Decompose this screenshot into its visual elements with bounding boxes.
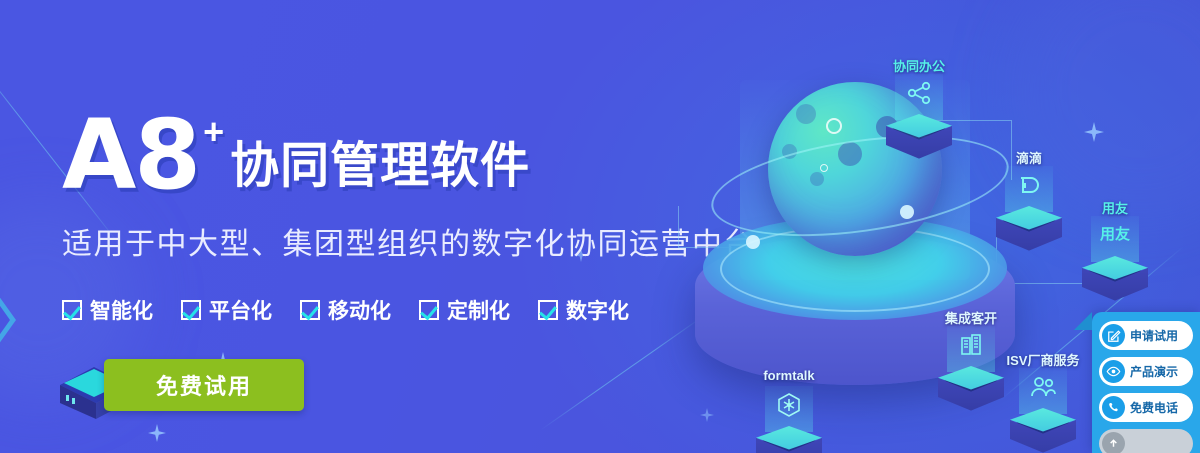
users-group-icon <box>1028 372 1058 402</box>
feature-label: 智能化 <box>90 295 153 325</box>
checkbox-checked-icon[interactable] <box>419 300 439 320</box>
side-action-apply-trial[interactable]: 申请试用 <box>1099 321 1193 350</box>
node-collab-office[interactable]: 协同办公 <box>882 58 956 150</box>
checkbox-checked-icon[interactable] <box>300 300 320 320</box>
side-action-label: 申请试用 <box>1130 327 1178 344</box>
node-integration-dev[interactable]: 集成客开 <box>934 310 1008 402</box>
yonyou-logo-icon: 用友 <box>1100 220 1130 250</box>
floating-action-panel: 申请试用 产品演示 免费电话 <box>1092 312 1200 453</box>
eye-icon <box>1102 360 1125 383</box>
feature-label: 平台化 <box>209 295 272 325</box>
product-logo-superscript: + <box>203 114 224 150</box>
feature-item-platform[interactable]: 平台化 <box>181 295 272 325</box>
orbit-dot <box>900 205 914 219</box>
side-action-product-demo[interactable]: 产品演示 <box>1099 357 1193 386</box>
node-label: ISV厂商服务 <box>1007 350 1080 369</box>
node-formtalk[interactable]: formtalk <box>752 370 826 453</box>
hero-banner: A8 + 协同管理软件 适用于中大型、集团型组织的数字化协同运营中台 智能化 平… <box>0 0 1200 453</box>
node-label: 集成客开 <box>945 308 997 327</box>
checkbox-checked-icon[interactable] <box>538 300 558 320</box>
feature-item-mobile[interactable]: 移动化 <box>300 295 391 325</box>
side-action-free-call[interactable]: 免费电话 <box>1099 393 1193 422</box>
free-trial-button[interactable]: 免费试用 <box>104 359 304 411</box>
product-logo-text: A8 <box>62 110 199 201</box>
node-label: 滴滴 <box>1016 148 1042 167</box>
side-action-label: 产品演示 <box>1130 363 1178 380</box>
cta-area: 免费试用 <box>62 359 322 417</box>
checkbox-checked-icon[interactable] <box>181 300 201 320</box>
share-network-icon <box>904 78 934 108</box>
product-title-cn: 协同管理软件 <box>230 126 530 197</box>
feature-label: 移动化 <box>328 295 391 325</box>
feature-item-intelligent[interactable]: 智能化 <box>62 295 153 325</box>
buildings-icon <box>956 330 986 360</box>
side-action-back-to-top[interactable] <box>1099 429 1193 453</box>
node-yonyou[interactable]: 用友 用友 <box>1078 200 1152 292</box>
node-isv-service[interactable]: ISV厂商服务 <box>1006 352 1080 444</box>
phone-handset-icon <box>1102 396 1125 419</box>
feature-label: 定制化 <box>447 295 510 325</box>
feature-item-custom[interactable]: 定制化 <box>419 295 510 325</box>
node-label: 用友 <box>1102 198 1128 217</box>
node-label: 协同办公 <box>893 56 945 75</box>
chevron-decoration-1-mask <box>0 286 10 354</box>
node-didi[interactable]: 滴滴 <box>992 150 1066 242</box>
didi-logo-icon <box>1014 170 1044 200</box>
node-label: formtalk <box>763 368 814 383</box>
checkbox-checked-icon[interactable] <box>62 300 82 320</box>
snowflake-hex-icon <box>774 390 804 420</box>
orbit-dot <box>746 235 760 249</box>
sparkle-2 <box>148 424 166 442</box>
arrow-up-icon <box>1102 432 1125 453</box>
planet-crater <box>796 104 816 124</box>
chevron-decoration-1 <box>0 278 16 362</box>
pencil-square-icon <box>1102 324 1125 347</box>
side-action-label: 免费电话 <box>1130 399 1178 416</box>
planet-crater-ring <box>826 118 842 134</box>
